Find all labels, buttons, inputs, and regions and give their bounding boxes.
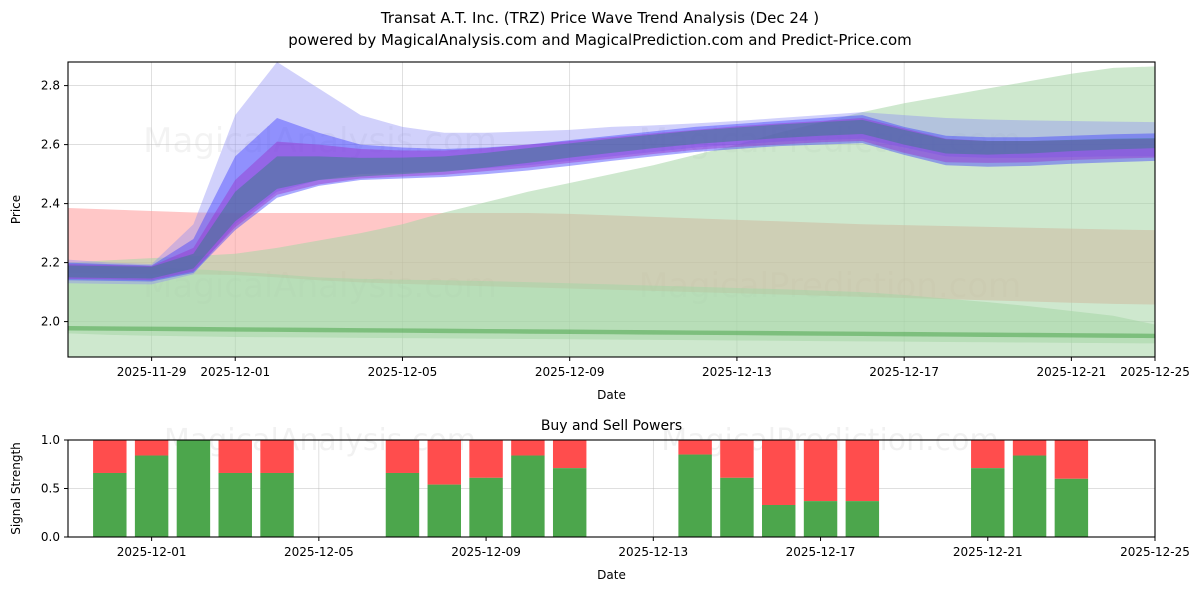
price-ytick-label: 2.4	[41, 197, 60, 211]
power-bar	[177, 440, 210, 537]
price-xtick-label: 2025-12-09	[535, 365, 605, 379]
buy-power-segment	[511, 456, 544, 537]
power-xtick-label: 2025-12-17	[786, 545, 856, 559]
power-xaxis-label: Date	[597, 568, 626, 582]
chart-header: Transat A.T. Inc. (TRZ) Price Wave Trend…	[0, 0, 1200, 51]
power-ytick-label: 1.0	[41, 433, 60, 447]
page-title: Transat A.T. Inc. (TRZ) Price Wave Trend…	[0, 8, 1200, 29]
sell-power-segment	[135, 440, 168, 456]
price-xtick-label: 2025-12-13	[702, 365, 772, 379]
power-bar	[720, 440, 753, 537]
buy-power-segment	[846, 501, 879, 537]
buy-power-segment	[428, 485, 461, 537]
power-xtick-label: 2025-12-09	[451, 545, 521, 559]
buy-sell-title: Buy and Sell Powers	[541, 418, 682, 434]
power-bar	[469, 440, 502, 537]
power-bar	[804, 440, 837, 537]
chart-page: Transat A.T. Inc. (TRZ) Price Wave Trend…	[0, 0, 1200, 600]
price-xtick-label: 2025-12-05	[368, 365, 438, 379]
sell-power-segment	[846, 440, 879, 501]
sell-power-segment	[260, 440, 293, 473]
price-ytick-label: 2.0	[41, 315, 60, 329]
sell-power-segment	[553, 440, 586, 468]
buy-power-segment	[553, 468, 586, 537]
sell-power-segment	[428, 440, 461, 485]
buy-power-segment	[135, 456, 168, 537]
power-xtick-label: 2025-12-25	[1120, 545, 1190, 559]
power-bar	[135, 440, 168, 537]
power-bar	[93, 440, 126, 537]
power-bar	[386, 440, 419, 537]
sell-power-segment	[219, 440, 252, 473]
power-bar	[1013, 440, 1046, 537]
power-bar	[260, 440, 293, 537]
sell-power-segment	[469, 440, 502, 478]
power-xtick-label: 2025-12-05	[284, 545, 354, 559]
buy-power-segment	[804, 501, 837, 537]
price-wave-chart: MagicalAnalysis.comMagicalPrediction.com…	[0, 52, 1200, 452]
buy-power-segment	[219, 473, 252, 537]
buy-power-segment	[177, 440, 210, 537]
power-bar	[219, 440, 252, 537]
power-xtick-label: 2025-12-01	[117, 545, 187, 559]
power-bar	[428, 440, 461, 537]
buy-power-segment	[720, 478, 753, 537]
page-subtitle: powered by MagicalAnalysis.com and Magic…	[0, 30, 1200, 51]
power-xtick-label: 2025-12-13	[618, 545, 688, 559]
power-ytick-label: 0.0	[41, 530, 60, 544]
sell-power-segment	[511, 440, 544, 456]
sell-power-segment	[93, 440, 126, 473]
buy-power-segment	[469, 478, 502, 537]
price-xtick-label: 2025-12-17	[869, 365, 939, 379]
price-ytick-label: 2.2	[41, 256, 60, 270]
power-ytick-label: 0.5	[41, 482, 60, 496]
price-xtick-label: 2025-12-25	[1120, 365, 1190, 379]
price-ytick-label: 2.8	[41, 79, 60, 93]
buy-power-segment	[678, 455, 711, 537]
sell-power-segment	[678, 440, 711, 455]
power-yaxis-label: Signal Strength	[9, 442, 23, 535]
price-xtick-label: 2025-12-01	[200, 365, 270, 379]
buy-power-segment	[1013, 456, 1046, 537]
power-bar	[511, 440, 544, 537]
buy-power-segment	[762, 505, 795, 537]
sell-power-segment	[720, 440, 753, 478]
buy-power-segment	[971, 468, 1004, 537]
buy-power-segment	[260, 473, 293, 537]
buy-power-segment	[1055, 479, 1088, 537]
sell-power-segment	[804, 440, 837, 501]
power-xtick-label: 2025-12-21	[953, 545, 1023, 559]
price-xtick-label: 2025-12-21	[1037, 365, 1107, 379]
price-ytick-label: 2.6	[41, 138, 60, 152]
power-bar	[553, 440, 586, 537]
buy-sell-powers-chart: MagicalAnalysis.comMagicalPrediction.com…	[0, 412, 1200, 602]
price-bands	[68, 62, 1155, 357]
buy-power-segment	[93, 473, 126, 537]
price-yaxis-label: Price	[9, 195, 23, 224]
price-xtick-label: 2025-11-29	[117, 365, 187, 379]
power-bar	[678, 440, 711, 537]
power-bar	[762, 440, 795, 537]
power-bar	[971, 440, 1004, 537]
sell-power-segment	[1055, 440, 1088, 479]
sell-power-segment	[971, 440, 1004, 468]
sell-power-segment	[386, 440, 419, 473]
sell-power-segment	[1013, 440, 1046, 456]
sell-power-segment	[762, 440, 795, 505]
power-bar	[846, 440, 879, 537]
buy-power-segment	[386, 473, 419, 537]
power-bar	[1055, 440, 1088, 537]
price-xaxis-label: Date	[597, 388, 626, 402]
